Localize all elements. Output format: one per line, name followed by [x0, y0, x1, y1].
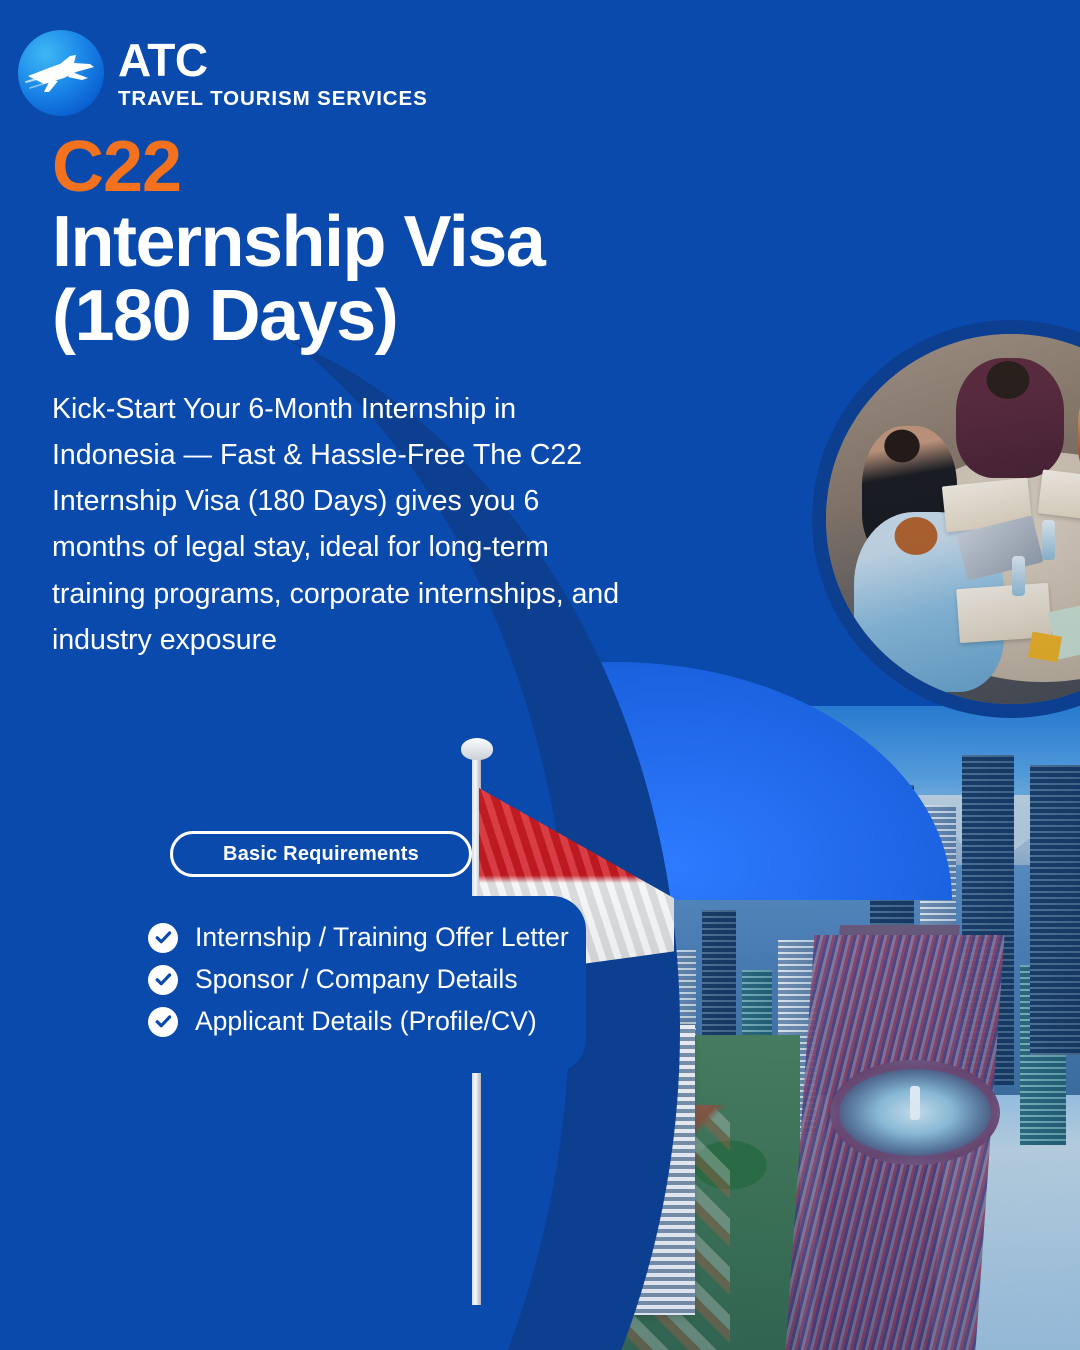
- check-circle-icon: [148, 965, 178, 995]
- brand-text: ATC TRAVEL TOURISM SERVICES: [118, 37, 428, 110]
- students-studying-at-round-table-photo: [826, 334, 1080, 704]
- airplane-icon: [18, 30, 104, 116]
- requirements-card: Internship / Training Offer Letter Spons…: [126, 896, 586, 1073]
- list-item-label: Internship / Training Offer Letter: [195, 922, 569, 953]
- brand-logo[interactable]: ATC TRAVEL TOURISM SERVICES: [18, 30, 428, 116]
- list-item-label: Sponsor / Company Details: [195, 964, 518, 995]
- page-title: Internship Visa (180 Days): [52, 205, 544, 353]
- flagpole-finial: [461, 738, 493, 760]
- page-title-line-1: Internship Visa: [52, 205, 544, 279]
- list-item: Internship / Training Offer Letter: [148, 922, 586, 953]
- requirements-badge: Basic Requirements: [170, 831, 472, 877]
- list-item-label: Applicant Details (Profile/CV): [195, 1006, 537, 1037]
- photo-tint: [826, 334, 1080, 704]
- poster-canvas: ATC TRAVEL TOURISM SERVICES C22 Internsh…: [0, 0, 1080, 1350]
- list-item: Sponsor / Company Details: [148, 964, 586, 995]
- brand-name: ATC: [118, 37, 428, 83]
- brand-tagline: TRAVEL TOURISM SERVICES: [118, 89, 428, 110]
- requirements-badge-label: Basic Requirements: [223, 843, 419, 866]
- check-circle-icon: [148, 1007, 178, 1037]
- visa-code-eyebrow: C22: [52, 131, 181, 203]
- page-title-line-2: (180 Days): [52, 279, 544, 353]
- list-item: Applicant Details (Profile/CV): [148, 1006, 586, 1037]
- hero-description: Kick-Start Your 6-Month Internship in In…: [52, 386, 632, 663]
- check-circle-icon: [148, 923, 178, 953]
